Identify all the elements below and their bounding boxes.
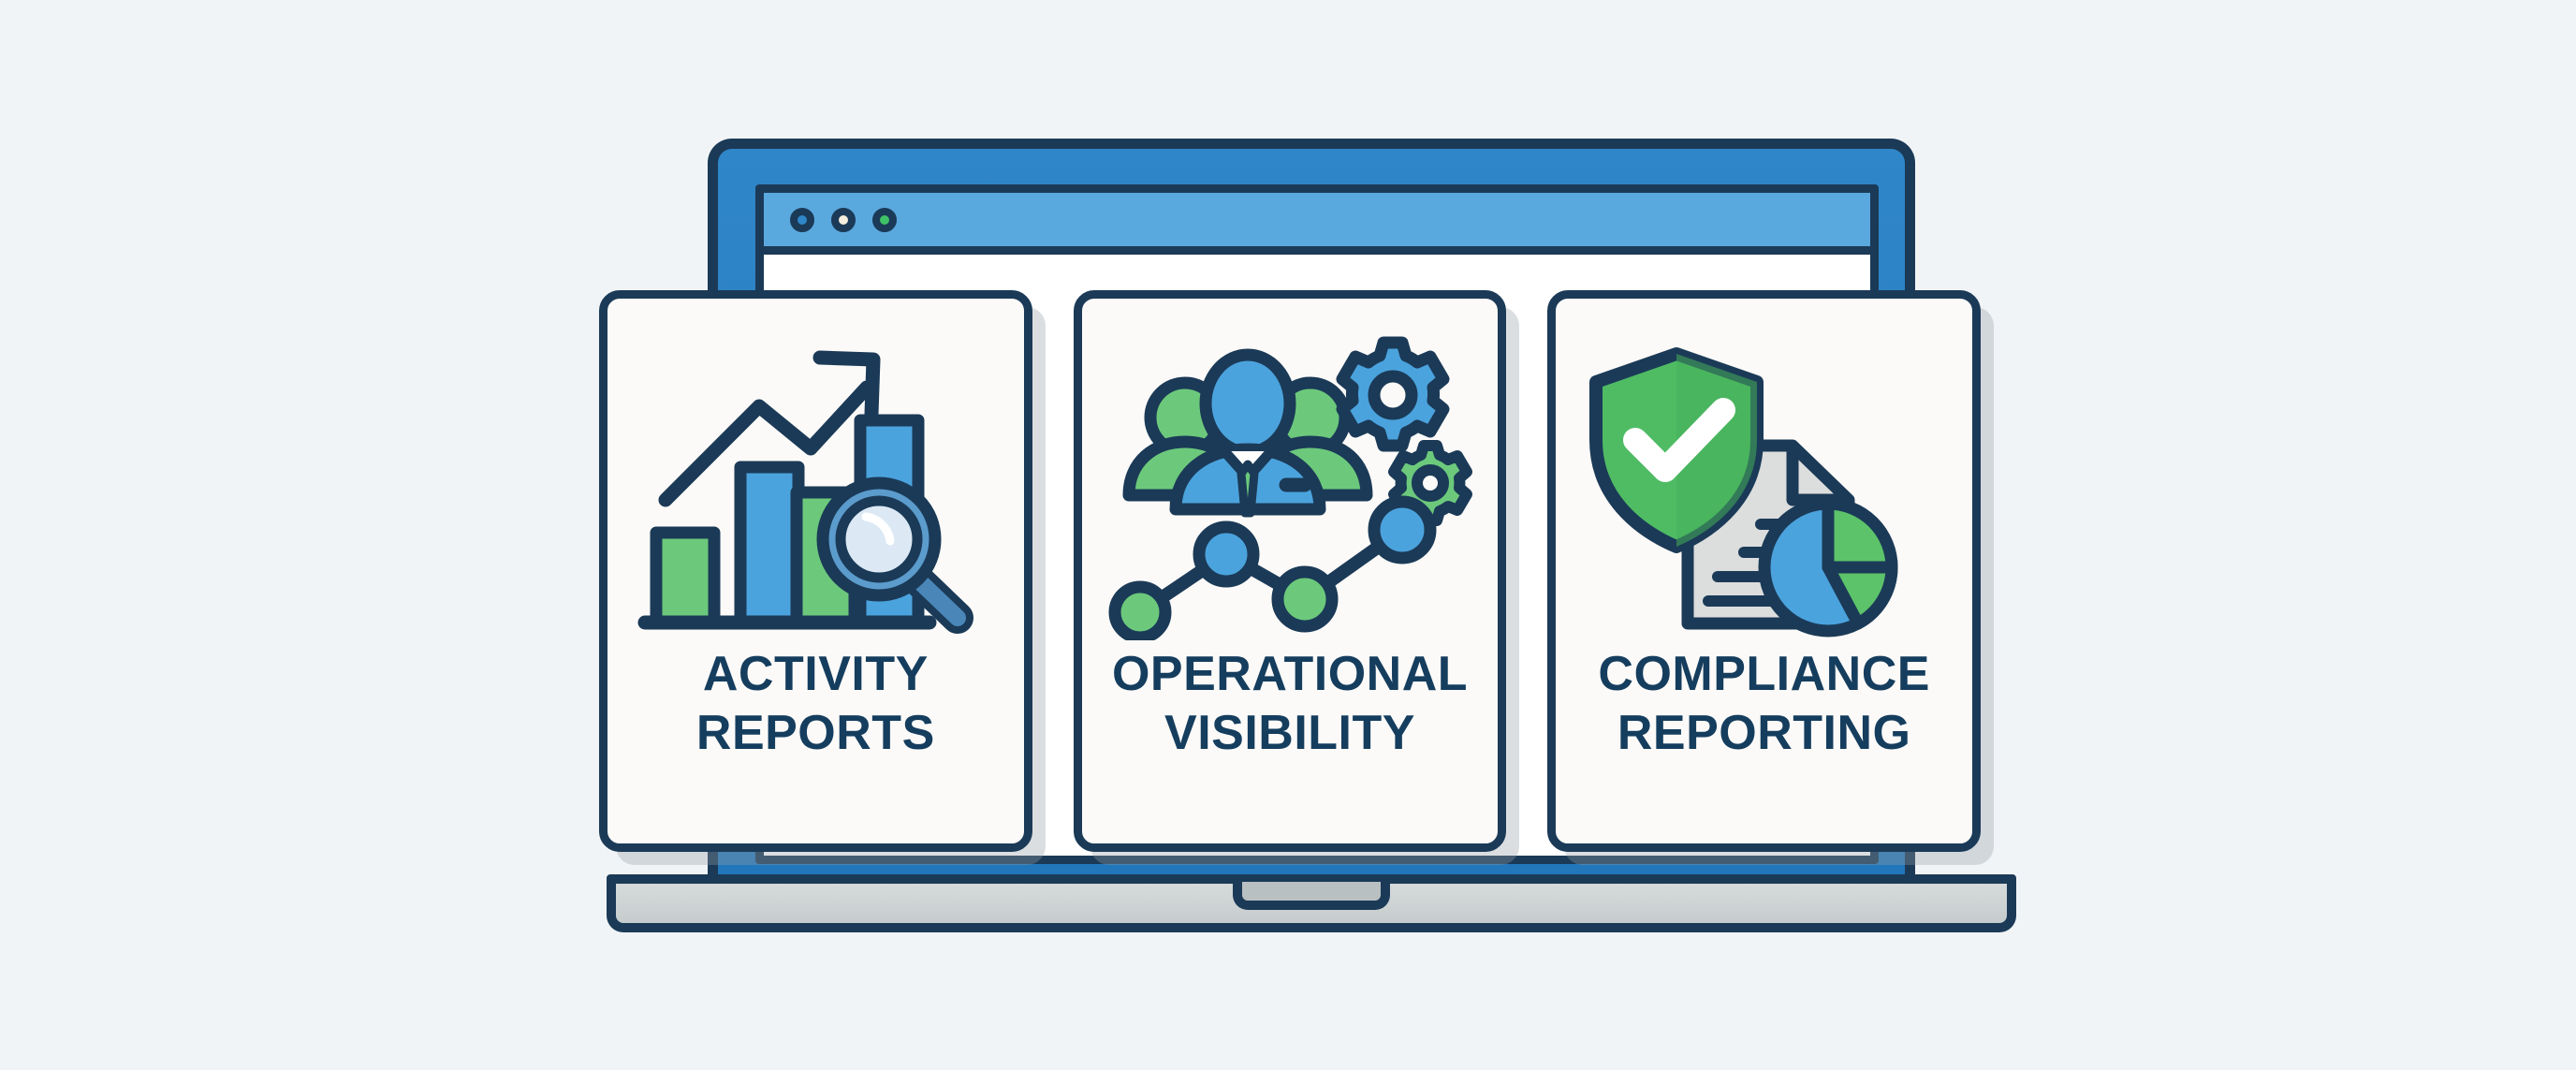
bar-chart-magnifier-icon	[628, 327, 1003, 645]
window-dot-green-icon[interactable]	[872, 208, 897, 232]
card-compliance-reporting[interactable]: COMPLIANCE REPORTING	[1547, 290, 1981, 852]
gear-blue-icon	[1342, 343, 1443, 446]
team-gears-linechart-icon	[1103, 327, 1477, 645]
laptop-base	[607, 874, 2016, 932]
card-title-compliance-reporting: COMPLIANCE REPORTING	[1581, 645, 1947, 764]
pie-chart-icon	[1764, 504, 1892, 631]
card-title-line-1: OPERATIONAL	[1112, 645, 1468, 704]
card-title-line-1: COMPLIANCE	[1598, 645, 1930, 704]
card-title-line-2: VISIBILITY	[1112, 704, 1468, 763]
card-title-line-2: REPORTING	[1598, 704, 1930, 763]
card-title-activity-reports: ACTIVITY REPORTS	[680, 645, 952, 764]
shield-document-piechart-icon	[1577, 327, 1952, 645]
feature-card-row: ACTIVITY REPORTS	[599, 290, 1981, 852]
window-dot-cream-icon[interactable]	[831, 208, 856, 232]
line-chart-icon	[1115, 502, 1430, 638]
card-title-line-1: ACTIVITY	[696, 645, 935, 704]
window-dot-blue-icon[interactable]	[790, 208, 814, 232]
card-title-operational-visibility: OPERATIONAL VISIBILITY	[1095, 645, 1485, 764]
card-operational-visibility[interactable]: OPERATIONAL VISIBILITY	[1074, 290, 1507, 852]
browser-titlebar	[764, 193, 1870, 255]
card-title-line-2: REPORTS	[696, 704, 935, 763]
illustration-canvas: ACTIVITY REPORTS	[0, 0, 2576, 1070]
laptop-trackpad-notch	[1233, 882, 1390, 910]
card-activity-reports[interactable]: ACTIVITY REPORTS	[599, 290, 1032, 852]
